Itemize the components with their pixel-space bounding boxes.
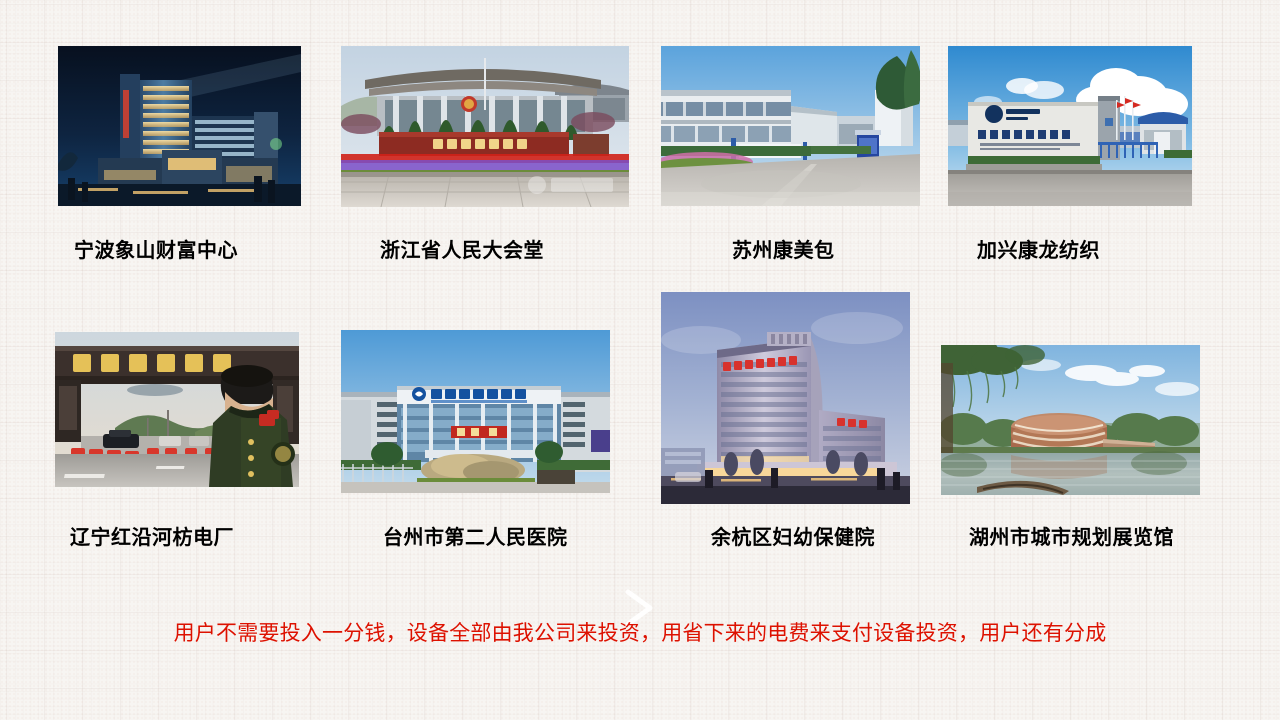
liaoning-hongyanhe-power-plant-photo[interactable]: [55, 332, 299, 487]
footer-note: 用户不需要投入一分钱，设备全部由我公司来投资，用省下来的电费来支付设备投资，用户…: [0, 620, 1280, 646]
huzhou-urban-planning-exhibition-hall-photo[interactable]: [941, 345, 1200, 495]
jiaxing-kanglong-textile-photo[interactable]: [948, 46, 1192, 206]
gallery-caption-3: 苏州康美包: [732, 240, 835, 262]
zhejiang-great-hall-photo[interactable]: [341, 46, 629, 207]
gallery-caption-6: 台州市第二人民医院: [383, 527, 568, 549]
ningbo-xiangshan-wealth-center-photo[interactable]: [58, 46, 301, 206]
yuhang-maternal-child-hospital-photo[interactable]: [661, 292, 910, 504]
taizhou-second-peoples-hospital-photo[interactable]: [341, 330, 610, 493]
suzhou-kangmeibao-factory-photo[interactable]: [661, 46, 920, 206]
gallery-caption-4: 加兴康龙纺织: [977, 240, 1100, 262]
gallery-caption-2: 浙江省人民大会堂: [380, 240, 544, 262]
gallery-caption-5: 辽宁红沿河枋电厂: [70, 527, 234, 549]
gallery-caption-1: 宁波象山财富中心: [74, 240, 238, 262]
gallery-caption-7: 余杭区妇幼保健院: [711, 527, 875, 549]
gallery-caption-8: 湖州市城市规划展览馆: [969, 527, 1174, 549]
